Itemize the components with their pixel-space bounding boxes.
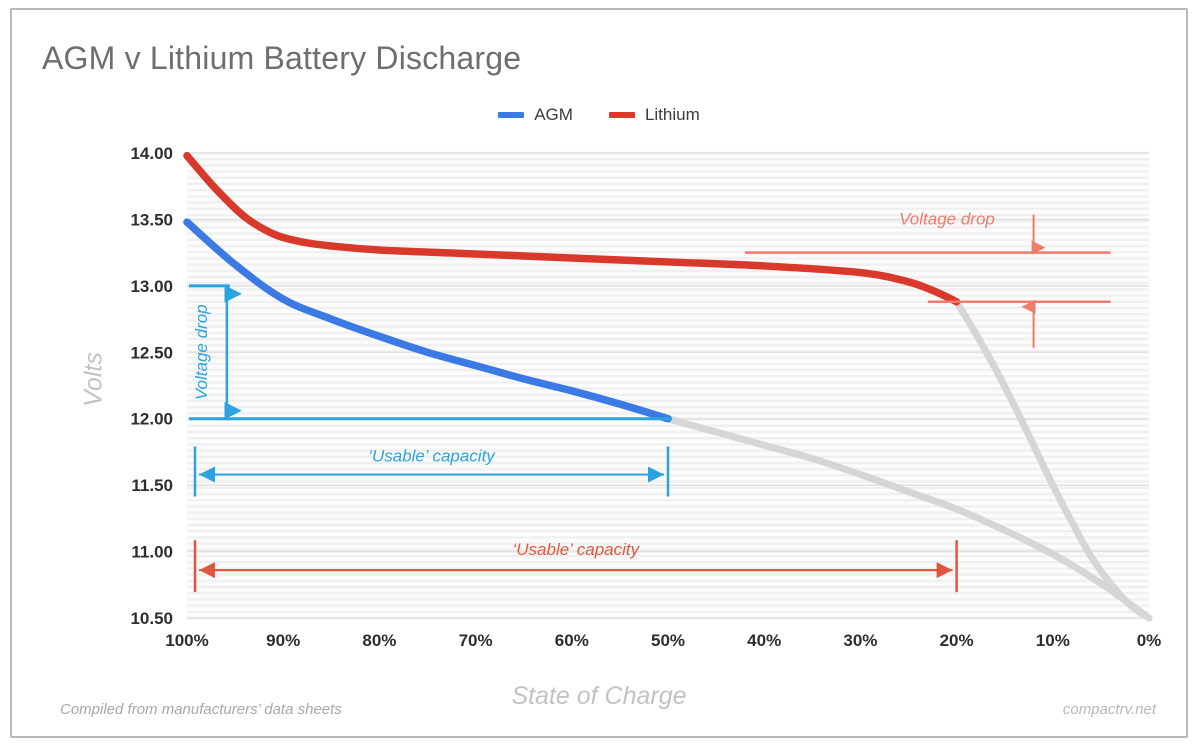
y-tick-13.00: 13.00 bbox=[130, 277, 173, 296]
annotation-label-agm-voltage-drop: Voltage drop bbox=[192, 304, 211, 400]
plot-area: 14.0013.5013.0012.5012.0011.5011.0010.50… bbox=[12, 10, 1188, 738]
x-tick-60%: 60% bbox=[555, 631, 589, 650]
y-axis-tick-labels: 14.0013.5013.0012.5012.0011.5011.0010.50 bbox=[130, 144, 173, 628]
footer-source-note: Compiled from manufacturers’ data sheets bbox=[60, 701, 342, 718]
x-tick-20%: 20% bbox=[940, 631, 974, 650]
x-tick-30%: 30% bbox=[843, 631, 877, 650]
y-tick-12.00: 12.00 bbox=[130, 410, 173, 429]
chart-frame: AGM v Lithium Battery Discharge AGM Lith… bbox=[10, 8, 1188, 738]
footer-watermark: compactrv.net bbox=[1063, 701, 1156, 718]
x-tick-80%: 80% bbox=[362, 631, 396, 650]
y-tick-13.50: 13.50 bbox=[130, 210, 173, 229]
annotation-label-agm-usable-capacity: ‘Usable’ capacity bbox=[368, 447, 496, 466]
x-tick-0%: 0% bbox=[1137, 631, 1162, 650]
annotation-label-lithium-voltage-drop: Voltage drop bbox=[899, 210, 995, 229]
annotation-label-lithium-usable-capacity: ‘Usable’ capacity bbox=[512, 540, 640, 559]
y-tick-12.50: 12.50 bbox=[130, 343, 173, 362]
y-tick-11.00: 11.00 bbox=[131, 543, 173, 562]
y-tick-14.00: 14.00 bbox=[130, 144, 173, 163]
x-tick-100%: 100% bbox=[165, 631, 208, 650]
x-tick-70%: 70% bbox=[459, 631, 493, 650]
y-tick-11.50: 11.50 bbox=[131, 476, 173, 495]
y-tick-10.50: 10.50 bbox=[130, 609, 173, 628]
x-tick-10%: 10% bbox=[1036, 631, 1070, 650]
x-tick-90%: 90% bbox=[266, 631, 300, 650]
x-tick-40%: 40% bbox=[747, 631, 781, 650]
x-axis-tick-labels: 100%90%80%70%60%50%40%30%20%10%0% bbox=[165, 631, 1161, 650]
x-tick-50%: 50% bbox=[651, 631, 685, 650]
